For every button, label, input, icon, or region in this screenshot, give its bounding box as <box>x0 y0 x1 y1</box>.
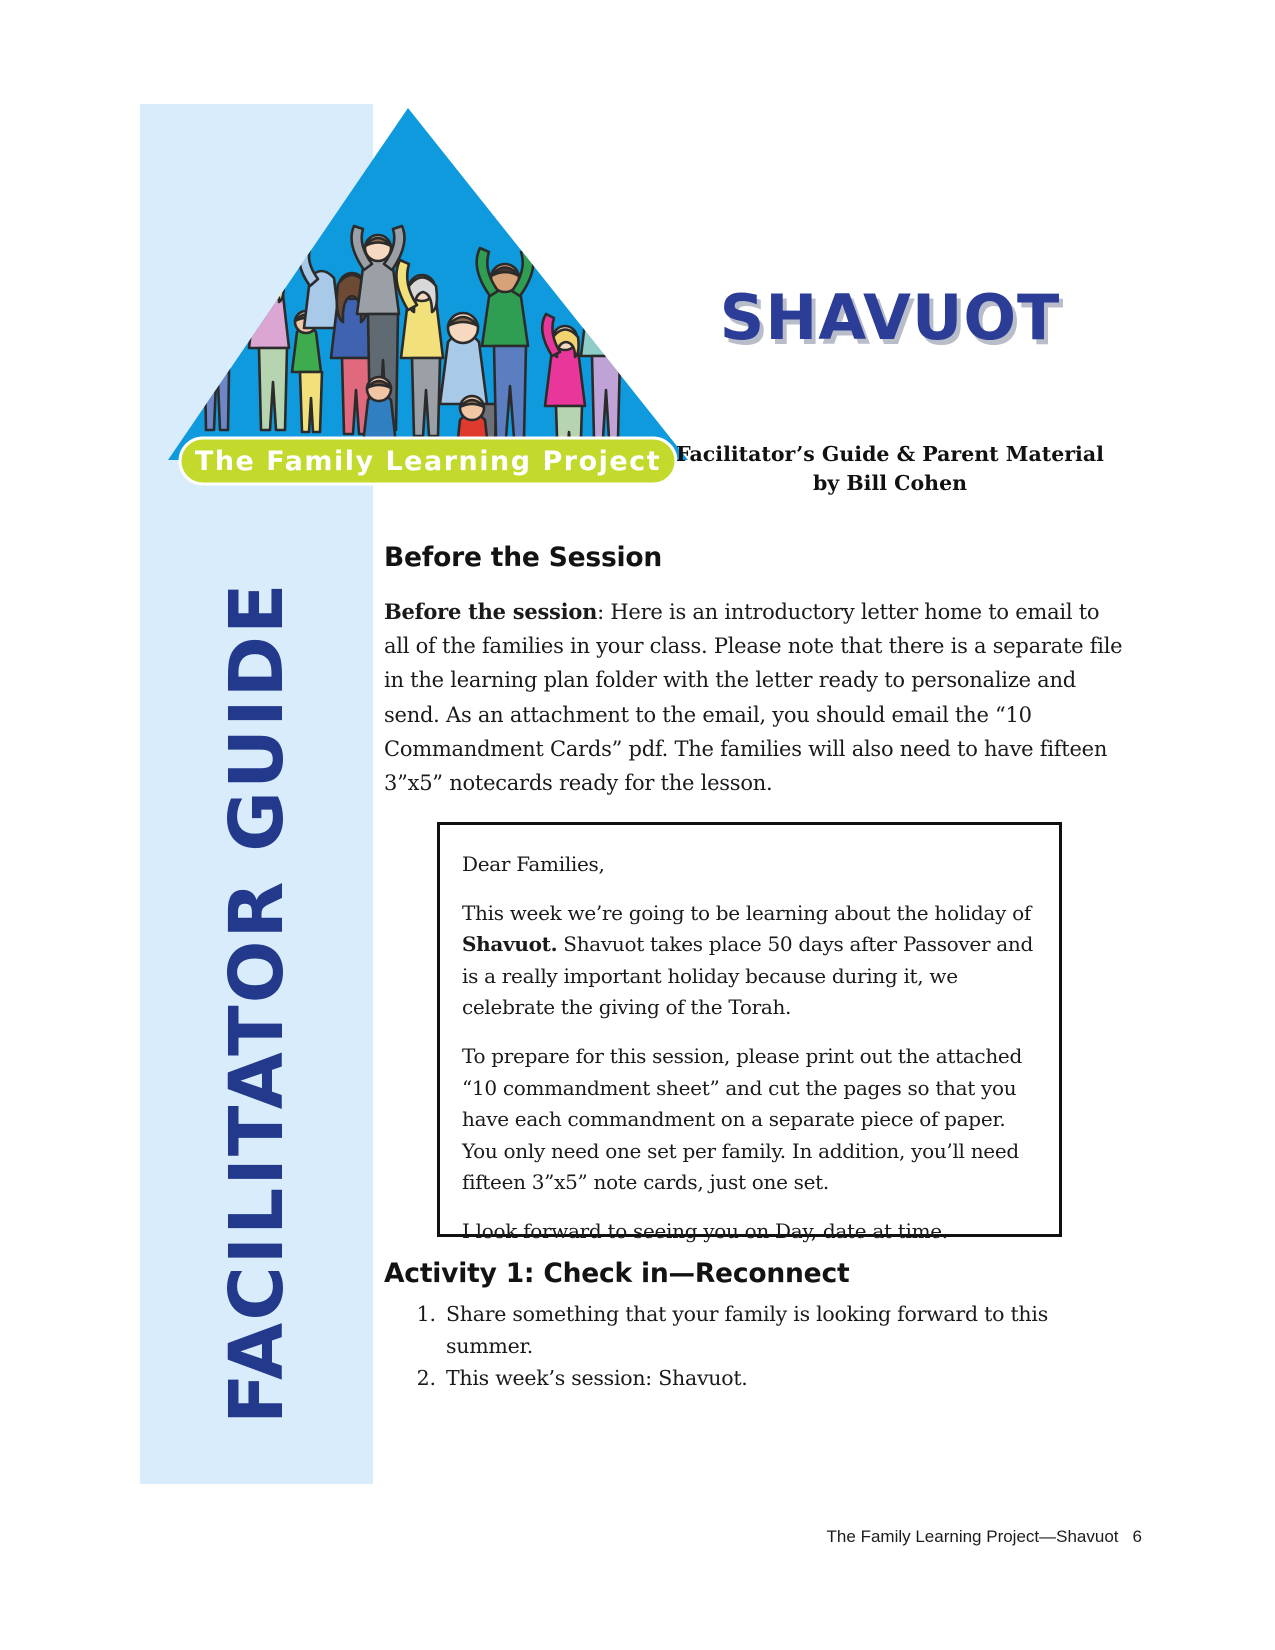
before-session-section: Before the Session Before the session: H… <box>384 542 1124 800</box>
document-page: FACILITATOR GUIDE <box>0 0 1275 1650</box>
logo-artwork: The Family Learning Project <box>160 100 700 500</box>
list-item: This week’s session: Shavuot. <box>442 1363 1124 1395</box>
subtitle-line-1: Facilitator’s Guide & Parent Material <box>640 440 1140 469</box>
logo-banner-text: The Family Learning Project <box>195 446 661 477</box>
page-footer: The Family Learning Project—Shavuot6 <box>0 1527 1142 1547</box>
letter-paragraph-4: I look forward to seeing you on Day, dat… <box>462 1216 1033 1248</box>
before-session-paragraph: Before the session: Here is an introduct… <box>384 595 1124 800</box>
before-session-heading: Before the Session <box>384 542 1124 573</box>
letter-p2-bold: Shavuot. <box>462 932 557 956</box>
activity-1-heading: Activity 1: Check in—Reconnect <box>384 1258 1124 1289</box>
before-session-body: : Here is an introductory letter home to… <box>384 600 1122 795</box>
page-number: 6 <box>1133 1527 1142 1546</box>
list-item: Share something that your family is look… <box>442 1299 1124 1363</box>
activity-1-list: Share something that your family is look… <box>384 1299 1124 1394</box>
subtitle-block: Facilitator’s Guide & Parent Material by… <box>640 440 1140 498</box>
letter-paragraph-2: This week we’re going to be learning abo… <box>462 898 1033 1024</box>
page-title: SHAVUOT <box>640 285 1140 350</box>
activity-1-section: Activity 1: Check in—Reconnect Share som… <box>384 1258 1124 1394</box>
subtitle-line-2: by Bill Cohen <box>640 469 1140 498</box>
letter-p2-pre: This week we’re going to be learning abo… <box>462 901 1031 925</box>
family-learning-project-logo: The Family Learning Project <box>160 100 700 500</box>
parent-letter-box: Dear Families, This week we’re going to … <box>437 822 1062 1237</box>
title-block: SHAVUOT <box>640 285 1140 350</box>
before-session-lead: Before the session <box>384 599 597 624</box>
letter-paragraph-3: To prepare for this session, please prin… <box>462 1041 1033 1199</box>
footer-text: The Family Learning Project—Shavuot <box>827 1527 1119 1546</box>
parent-letter-content: Dear Families, This week we’re going to … <box>440 825 1059 1258</box>
letter-salutation: Dear Families, <box>462 849 1033 881</box>
